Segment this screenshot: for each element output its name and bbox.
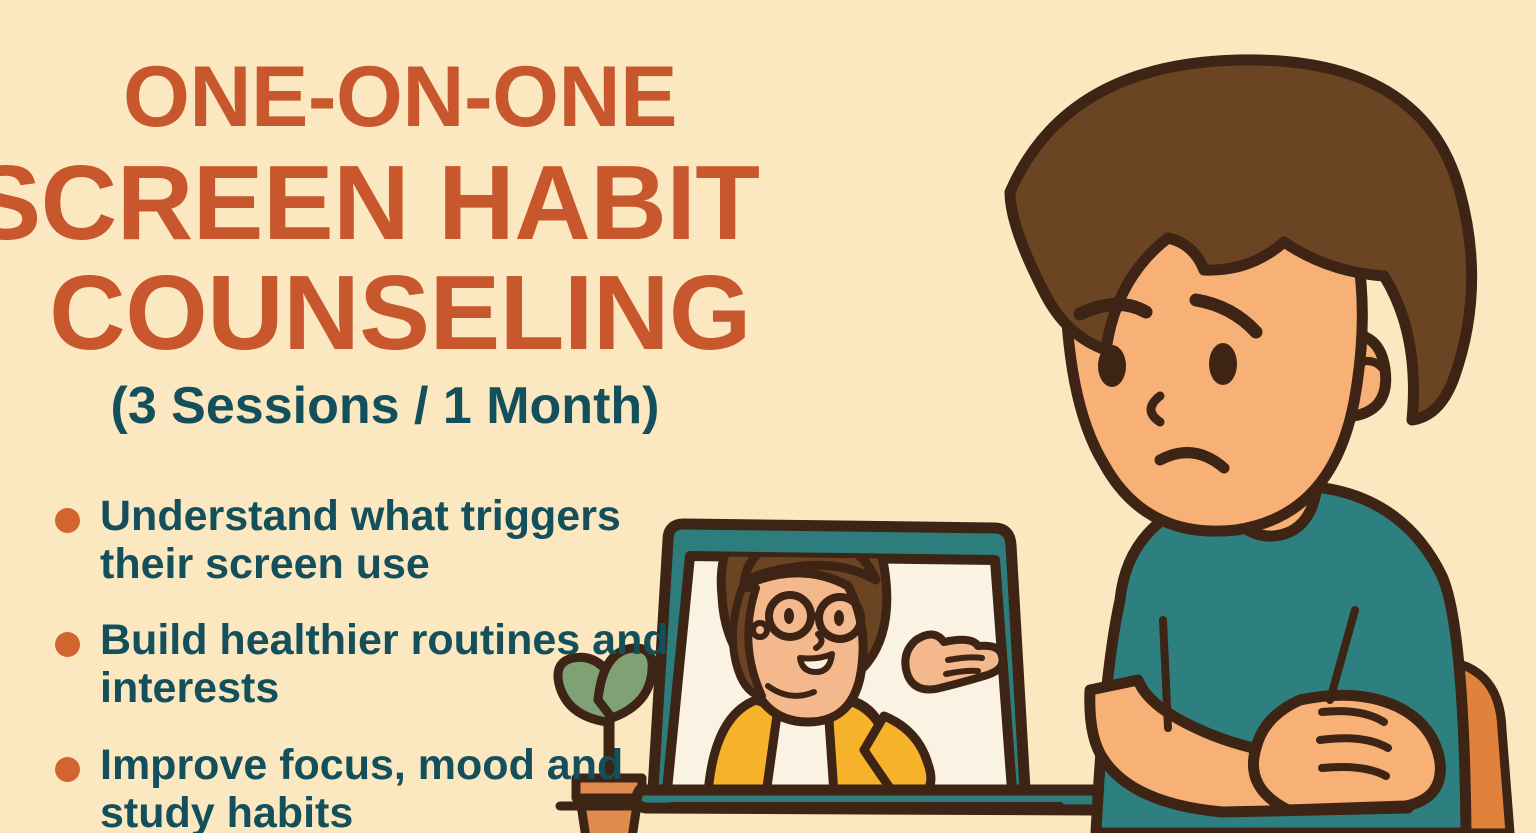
boy-eye-right — [1209, 343, 1237, 385]
poster-canvas: ONE-ON-ONE SCREEN HABIT COUNSELING (3 Se… — [0, 0, 1536, 833]
boy-eye-left — [1098, 345, 1126, 387]
illustration-layer — [0, 0, 1536, 833]
